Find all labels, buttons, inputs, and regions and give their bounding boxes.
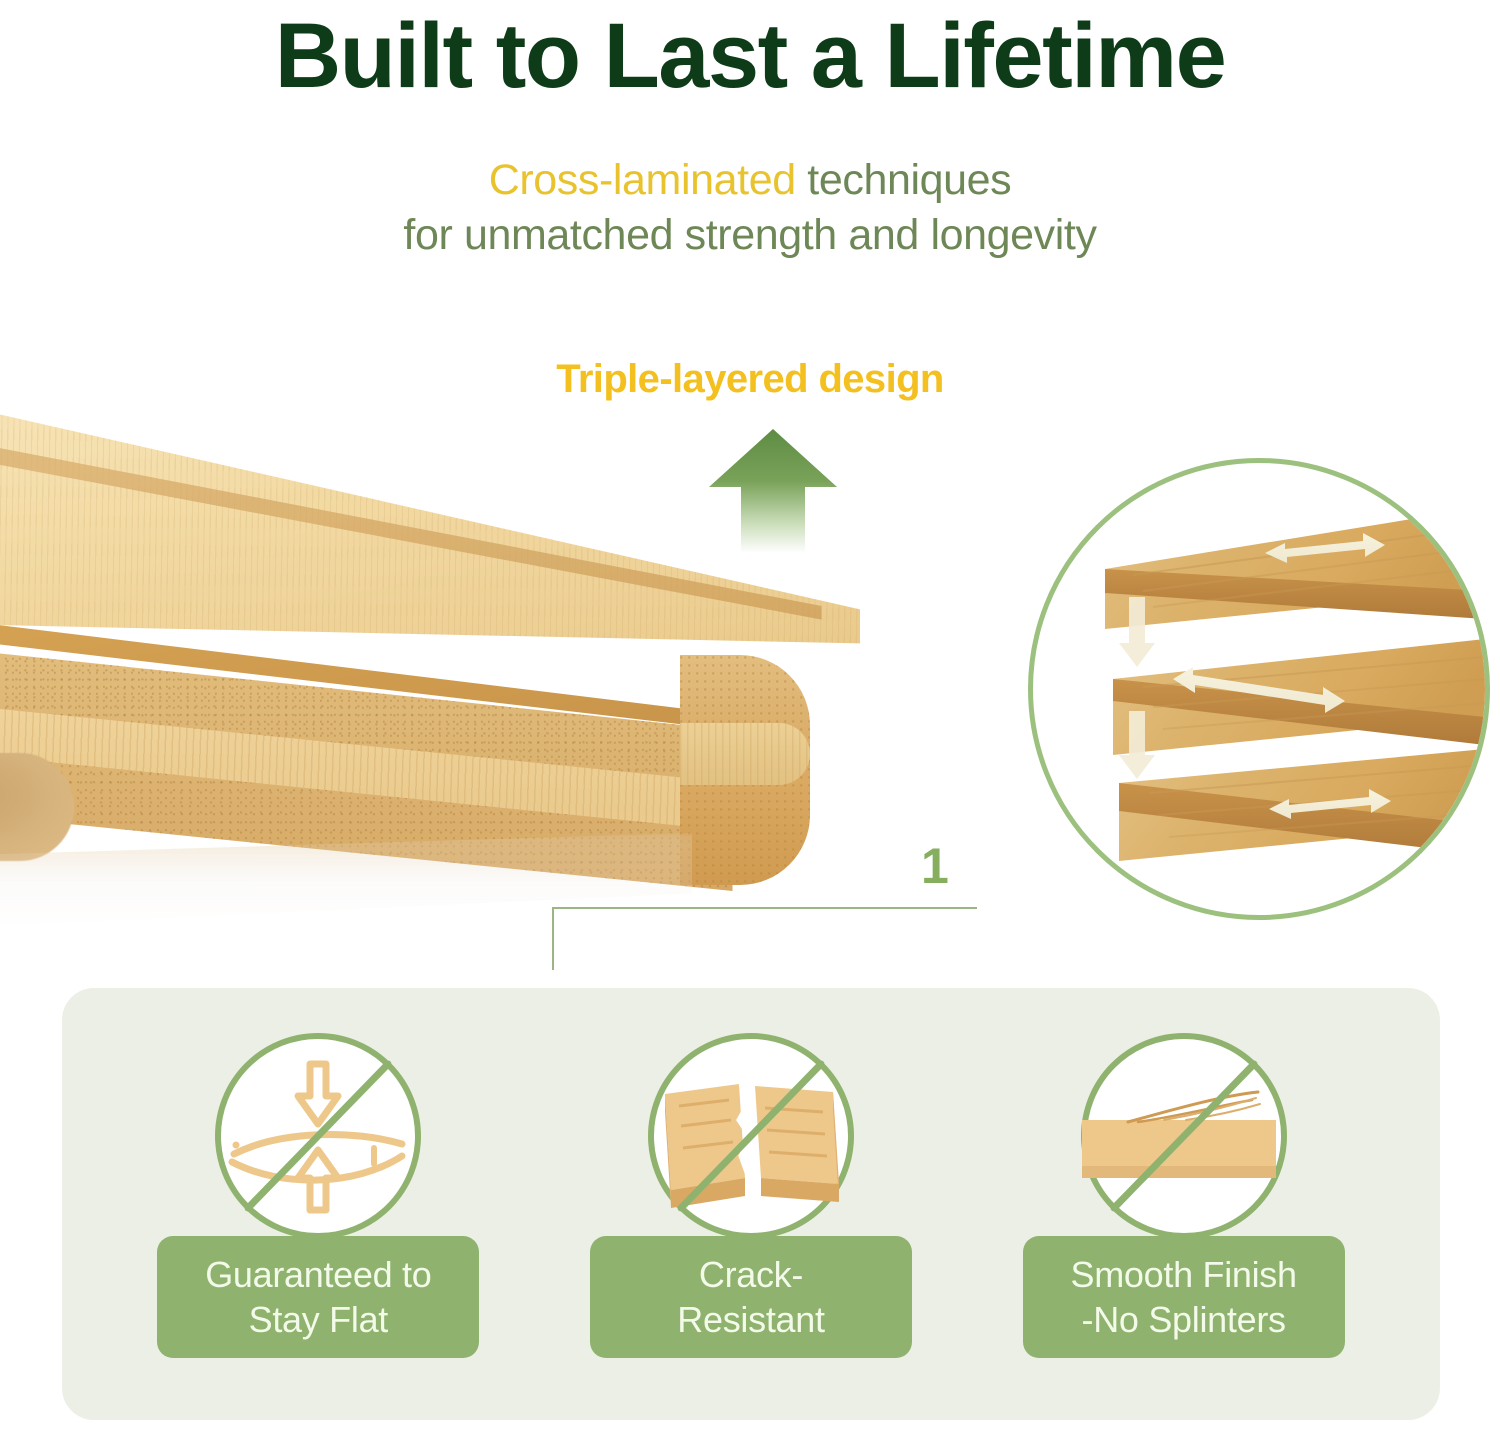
feature-item-stay-flat[interactable]: Guaranteed to Stay Flat xyxy=(153,1026,483,1358)
feature-item-smooth-finish[interactable]: Smooth Finish -No Splinters xyxy=(1019,1026,1349,1358)
cross-laminated-layers-inset xyxy=(1028,458,1490,920)
feature-label-stay-flat: Guaranteed to Stay Flat xyxy=(157,1236,479,1358)
subtitle-highlight: Cross-laminated xyxy=(489,156,796,204)
feature-item-crack-resistant[interactable]: Crack- Resistant xyxy=(586,1026,916,1358)
inset-layer-middle xyxy=(1113,639,1485,755)
callout-number-1: 1 xyxy=(921,837,949,895)
board-reflection xyxy=(0,833,800,943)
subtitle: Cross-laminated techniques for unmatched… xyxy=(0,153,1500,265)
feature-label-line-1: Smooth Finish xyxy=(1071,1252,1297,1297)
features-panel: Guaranteed to Stay Flat xyxy=(62,988,1440,1420)
feature-label-line-2: -No Splinters xyxy=(1071,1297,1297,1342)
subtitle-line-1: Cross-laminated techniques xyxy=(0,153,1500,209)
no-crack-icon xyxy=(635,1026,867,1258)
up-arrow-icon xyxy=(706,425,840,555)
feature-label-smooth-finish: Smooth Finish -No Splinters xyxy=(1023,1236,1345,1358)
feature-label-crack-resistant: Crack- Resistant xyxy=(590,1236,912,1358)
subtitle-rest: techniques xyxy=(796,156,1012,204)
board-corner-core-stripe xyxy=(680,723,810,785)
features-row: Guaranteed to Stay Flat xyxy=(62,988,1440,1420)
subtitle-line-2: for unmatched strength and longevity xyxy=(0,208,1500,264)
inset-layer-bottom xyxy=(1119,749,1485,861)
header: Built to Last a Lifetime Cross-laminated… xyxy=(0,0,1500,264)
feature-label-line-1: Guaranteed to xyxy=(205,1252,431,1297)
feature-label-line-2: Stay Flat xyxy=(205,1297,431,1342)
feature-label-line-2: Resistant xyxy=(677,1297,824,1342)
page-title: Built to Last a Lifetime xyxy=(0,8,1500,105)
no-splinters-icon xyxy=(1068,1026,1300,1258)
feature-label-line-1: Crack- xyxy=(677,1252,824,1297)
inset-layer-top xyxy=(1105,507,1485,629)
diagram-stage: 1 2 3 xyxy=(0,330,1500,970)
no-warping-icon xyxy=(202,1026,434,1258)
